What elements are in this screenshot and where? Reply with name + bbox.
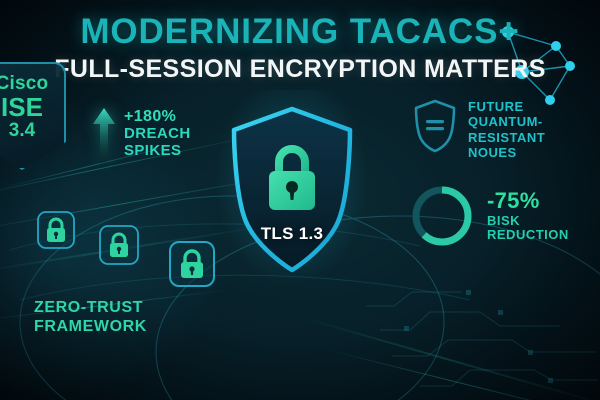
breach-stat-label-line1: DREACH (124, 126, 191, 143)
page-subtitle: FULL-SESSION ENCRYPTION MATTERS (0, 57, 600, 82)
padlock-tile-3 (168, 240, 216, 288)
quantum-resistant-block: FUTURE QUANTUM- RESISTANT NOUES (412, 98, 545, 160)
up-arrow-icon (92, 108, 116, 170)
donut-chart-icon (409, 183, 475, 249)
risk-reduction-stat: -75% BISK REDUCTION (409, 183, 569, 249)
risk-stat-value: -75% (487, 189, 569, 214)
circuit-traces (366, 292, 598, 386)
page-title: MODERNIZING TACACS+ (0, 14, 600, 49)
shield-equals-icon (412, 98, 458, 154)
padlock-tile-1 (36, 210, 76, 250)
quantum-line-1: FUTURE (468, 99, 545, 114)
breach-spike-stat: +180% DREACH SPIKES (92, 108, 191, 170)
padlock-icon (264, 142, 320, 214)
zero-trust-label: ZERO-TRUST FRAMEWORK (34, 298, 147, 336)
cisco-badge-brand: Cisco (0, 74, 48, 94)
breach-stat-label-line2: SPIKES (124, 143, 191, 160)
center-shield-block: TLS 1.3 (226, 104, 358, 276)
breach-stat-value: +180% (124, 108, 191, 126)
padlock-tile-2 (98, 224, 140, 266)
tls-version-label: TLS 1.3 (226, 224, 358, 244)
light-streak (330, 350, 600, 400)
infographic-canvas: MODERNIZING TACACS+ FULL-SESSION ENCRYPT… (0, 0, 600, 400)
light-streak (300, 316, 600, 400)
zero-trust-line-2: FRAMEWORK (34, 317, 147, 336)
quantum-line-4: NOUES (468, 145, 545, 160)
risk-stat-label-line2: REDUCTION (487, 228, 569, 243)
quantum-line-3: RESISTANT (468, 130, 545, 145)
cisco-ise-badge: Cisco ISE 3.4 (0, 62, 66, 170)
quantum-line-2: QUANTUM- (468, 114, 545, 129)
cisco-badge-version: 3.4 (9, 121, 35, 142)
cisco-badge-product: ISE (1, 94, 43, 121)
zero-trust-line-1: ZERO-TRUST (34, 298, 147, 317)
title-block: MODERNIZING TACACS+ FULL-SESSION ENCRYPT… (0, 14, 600, 82)
risk-stat-label-line1: BISK (487, 214, 569, 229)
